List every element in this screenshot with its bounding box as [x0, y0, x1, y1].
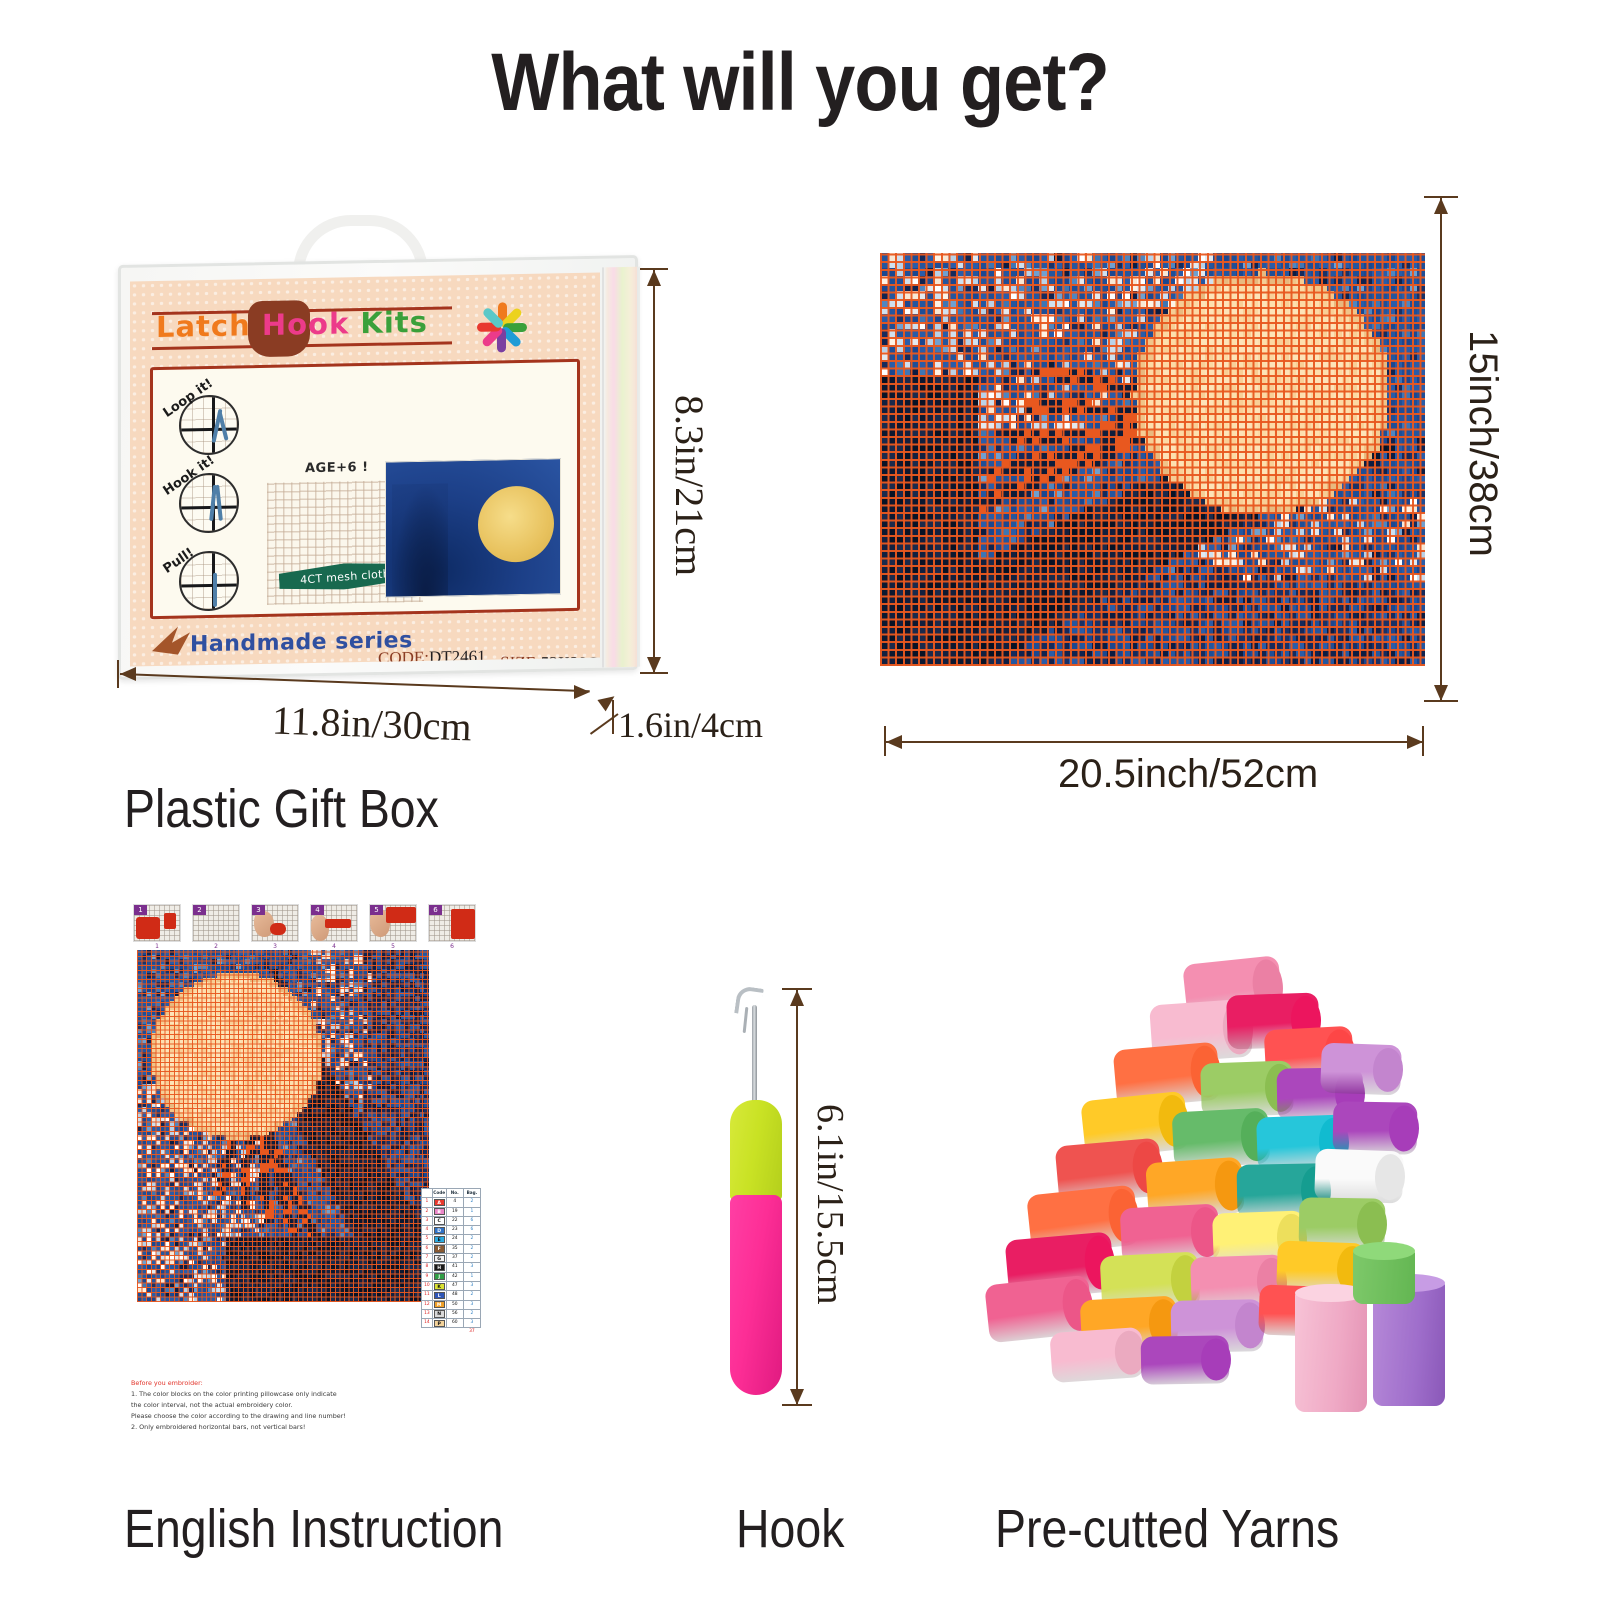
mesh-cell	[1417, 658, 1425, 666]
box-width-dim-label: 11.8in/30cm	[271, 697, 472, 751]
instruction-pixel-chart	[137, 950, 429, 1302]
thumbnail-badge: 4	[311, 905, 324, 915]
instruction-thumbnail: 4	[310, 904, 358, 942]
thumbnail-number: 4	[310, 943, 358, 950]
box-height-dim-line	[653, 270, 655, 673]
english-instruction-image: 112233445566 Code No. Bag. 1A422B1913C22…	[125, 898, 485, 1488]
box-height-dim-label: 8.3in/21cm	[666, 395, 713, 576]
box-preview-artwork	[385, 458, 561, 597]
canvas-height-dim-line	[1440, 198, 1442, 701]
canvas-width-dim-line	[886, 741, 1423, 743]
step-yarn-3	[213, 573, 217, 607]
thumbnail-yarn	[164, 913, 176, 929]
pinwheel-logo-icon	[470, 296, 532, 359]
box-width-tick-left	[117, 660, 119, 688]
canvas-width-arrow-left	[886, 735, 902, 749]
box-width-arrow-right	[574, 685, 590, 699]
thumbnail-yarn	[451, 909, 475, 939]
page-title: What will you get?	[96, 36, 1504, 130]
canvas-width-dim-label: 20.5inch/52cm	[1058, 752, 1318, 797]
box-height-arrow-up	[647, 270, 661, 286]
canvas-height-arrow-up	[1434, 198, 1448, 214]
box-inner-panel: Loop it! Hook it! Pull! AGE+6 ! 4CT mesh…	[150, 359, 580, 619]
thumbnail-yarn	[136, 917, 160, 939]
age-label: AGE+6 !	[305, 460, 369, 476]
box-depth-dim-line	[590, 713, 619, 735]
preview-trunk	[392, 483, 448, 597]
caption-plastic-gift-box: Plastic Gift Box	[124, 778, 439, 840]
thumbnail-badge: 3	[252, 905, 265, 915]
brand-word-hook: Hook	[262, 306, 349, 342]
canvas-height-arrow-down	[1434, 685, 1448, 701]
thumbnail-yarn	[386, 907, 416, 923]
thumbnail-badge: 5	[370, 905, 383, 915]
thumbnail-number: 1	[133, 943, 181, 950]
thumbnail-badge: 6	[429, 905, 442, 915]
brand-title: Latch Hook Kits	[156, 304, 456, 344]
instruction-step-thumbnails: 112233445566	[133, 898, 485, 946]
box-height-arrow-down	[647, 657, 661, 673]
thumbnail-number: 2	[192, 943, 240, 950]
thumbnail-badge: 1	[134, 905, 147, 915]
thumbnail-number: 3	[251, 943, 299, 950]
box-front-panel: Latch Hook Kits Loop it! H	[130, 272, 600, 666]
brand-word-kits: Kits	[360, 305, 428, 340]
plastic-gift-box-image: Latch Hook Kits Loop it! H	[118, 205, 638, 680]
thumbnail-badge: 2	[193, 905, 206, 915]
instruction-thumbnail: 2	[192, 904, 240, 942]
thumbnail-yarn	[325, 919, 351, 928]
box-spine	[602, 267, 640, 668]
thumbnail-number: 5	[369, 943, 417, 950]
box-depth-dim-label: 1.6in/4cm	[618, 704, 763, 746]
box-width-arrow-left	[120, 667, 136, 681]
instruction-thumbnail: 1	[133, 904, 181, 942]
brand-word-latch: Latch	[156, 308, 251, 344]
canvas-height-dim-label: 15inch/38cm	[1460, 330, 1505, 557]
printed-canvas-image	[880, 253, 1425, 666]
instruction-thumbnail: 6	[428, 904, 476, 942]
box-depth-arrow	[597, 691, 618, 712]
instruction-thumbnail: 5	[369, 904, 417, 942]
canvas-width-arrow-right	[1407, 735, 1423, 749]
instruction-thumbnail: 3	[251, 904, 299, 942]
thumbnail-number: 6	[428, 943, 476, 950]
handmade-swoosh-icon	[148, 620, 194, 661]
thumbnail-yarn	[270, 923, 286, 935]
